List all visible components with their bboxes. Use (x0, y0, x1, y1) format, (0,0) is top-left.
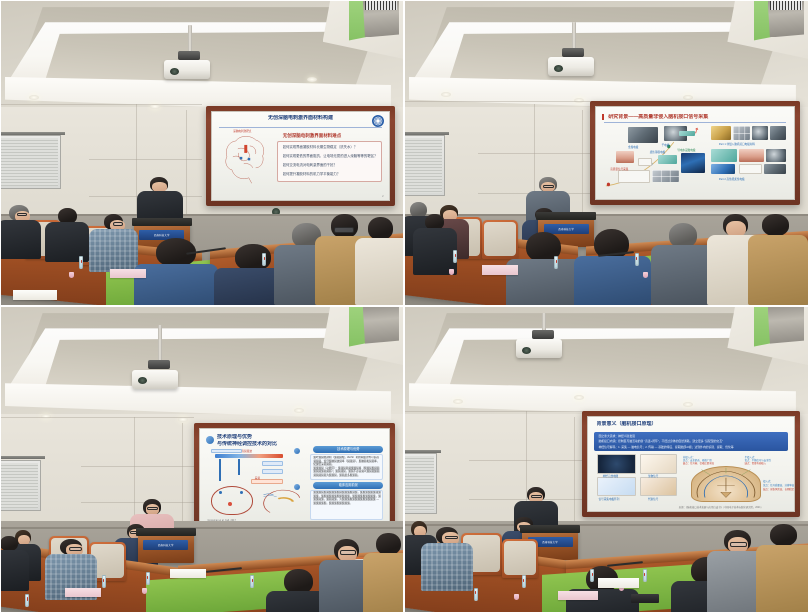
conference-room-scene-3: 技术原理与优势 与传统神经调控技术的对比 高频载波 差频 (1, 307, 403, 612)
gel-photo (658, 155, 678, 164)
water-bottle (635, 253, 639, 266)
paper-cup (449, 269, 454, 275)
metabolic-signal-illustration (640, 477, 677, 496)
audience-torso (574, 256, 651, 305)
podium: 西南科技大学 (138, 533, 194, 564)
paper-cup (142, 588, 147, 594)
glasses-icon (730, 542, 747, 547)
audience-head (770, 524, 797, 546)
projector-pole (542, 313, 546, 331)
baseboard (405, 524, 808, 526)
window-blinds (1, 138, 58, 187)
chair-cushion (504, 541, 536, 576)
wall-seam (478, 153, 599, 154)
figure-label: 生物信号 (648, 474, 658, 478)
water-bottle (102, 575, 106, 588)
window-sill (405, 450, 441, 453)
audience-member[interactable] (748, 214, 808, 305)
window-blinds (405, 138, 442, 193)
glasses-icon (445, 536, 458, 540)
window-sill (405, 132, 449, 135)
downlight-icon (294, 408, 304, 413)
slide-title-bar (602, 114, 604, 120)
conference-room-scene-2: 研究背景——高质量非侵入脑机接口信号采集 ➚ (405, 1, 808, 305)
podium-top (132, 218, 192, 226)
scale-label: 差频 (255, 476, 260, 480)
audience-torso (1, 550, 29, 591)
water-bottle (590, 569, 594, 582)
paper-cup (69, 272, 74, 278)
banner-line: 国之重大需求：神经义肢发展 (599, 434, 788, 438)
wall-seam (1, 417, 194, 418)
collage-panel-bottom-right[interactable]: 背景意义（脑机接口原理） 国之重大需求：神经义肢发展 脑机接口内涵：控制区与脑活… (404, 306, 809, 613)
projector-mount (178, 51, 200, 60)
flow-arrow (238, 459, 240, 475)
material-photo (638, 158, 652, 166)
glasses-icon (147, 507, 158, 510)
audience-member[interactable] (574, 229, 651, 305)
roadmap-label: 金属电极 (628, 145, 638, 149)
audience-member[interactable] (413, 214, 457, 275)
audience-head (376, 533, 401, 555)
slide-caption: Part 1 非侵入脑机接口电极材料 (719, 142, 755, 146)
slide-surface: 背景意义（脑机接口原理） 国之重大需求：神经义肢发展 脑机接口内涵：控制区与脑活… (587, 416, 795, 513)
documents (598, 578, 638, 587)
conference-room-scene-1: 无创深脑电刺激界面材料构建 无创深脑电刺激界面材料难点 (1, 1, 403, 305)
micrograph (766, 149, 786, 162)
wall-seam (469, 460, 590, 461)
window-sill (1, 456, 45, 459)
device-on-table (631, 594, 659, 603)
wall-seam (89, 159, 202, 160)
projection-screen[interactable]: 背景意义（脑机接口原理） 国之重大需求：神经义肢发展 脑机接口内涵：控制区与脑活… (582, 411, 800, 518)
flow-arrow (219, 459, 221, 481)
audience-torso (748, 235, 808, 305)
audience-torso (89, 229, 137, 272)
mode-disadvantage: 缺点：需要有创植入 (745, 461, 767, 465)
glasses-icon (113, 222, 124, 225)
slide-caption: Part 2 高性能柔性电极 (719, 177, 745, 181)
mode-disadvantage: 缺点：创伤风险高、长期稳定性差 (763, 487, 795, 491)
micrograph (752, 126, 768, 141)
window (1, 460, 41, 512)
signal-block (262, 469, 283, 474)
banner-line: 脑机接口内涵：控制区与脑活动的新 “直连+闭环”，不经过身体的自然通路，建立更多… (599, 439, 788, 443)
projector-lens-icon (170, 68, 179, 75)
glasses-icon (543, 185, 555, 188)
audience-head (669, 223, 697, 248)
figure-label: 信号采集电极阵列 (599, 497, 620, 501)
slide-surface: 无创深脑电刺激界面材料构建 无创深脑电刺激界面材料难点 (211, 111, 390, 201)
arrow-marker-icon (294, 448, 300, 454)
projection-screen[interactable]: 无创深脑电刺激界面材料构建 无创深脑电刺激界面材料难点 (206, 106, 395, 206)
baseboard (1, 527, 403, 529)
slide-divider (604, 122, 786, 123)
documents (558, 591, 598, 600)
water-bottle (554, 256, 558, 269)
window-blinds (405, 456, 434, 511)
slide-title: 无创深脑电刺激界面材料构建 (219, 115, 382, 121)
waveform-plot (618, 170, 650, 183)
downlight-icon (453, 399, 463, 404)
slide-bullet: 如何交流电流对电刺激界面的干扰？ (283, 163, 379, 167)
collage-panel-bottom-left[interactable]: 技术原理与优势 与传统神经调控技术的对比 高频载波 差频 (0, 306, 404, 613)
banner-line: 神经信号解码：1. 采集 — 脑电信号；2. 传输 — 基础的特征、提取脑部AI… (599, 445, 788, 449)
audience-torso (355, 238, 403, 305)
podium-sign-text: 西南科技大学 (143, 540, 188, 550)
sem-micrograph (628, 127, 658, 143)
projector-pole (158, 325, 162, 362)
electrode-array-illustration (597, 477, 636, 496)
signal-block (262, 461, 283, 466)
audience-member[interactable] (1, 536, 29, 591)
skin-cross-section (739, 149, 765, 162)
downlight-icon (683, 402, 693, 407)
audience-torso (756, 545, 808, 612)
section-header: 临床应用前景 (313, 482, 383, 489)
slide-title: 技术原理与优势 (217, 434, 349, 440)
section-paragraph: 颞叶颞频幅调制（颞频频幅，tACS）利用两组界外以超高频频频，使浮颞脑频波频率（… (313, 456, 381, 478)
audience-member[interactable] (421, 527, 473, 591)
window-sill (1, 132, 65, 135)
glasses-icon (69, 547, 82, 551)
signal-block (211, 449, 241, 453)
audience-member[interactable] (651, 223, 715, 305)
documents (110, 269, 146, 278)
audience-torso (413, 228, 457, 274)
wall-seam (1, 104, 202, 105)
audience-head (762, 214, 789, 236)
roadmap-label: 干电极 (662, 143, 670, 147)
slide-bullet: 如何提升凝胶材料的机力学平衡能力？ (283, 172, 379, 176)
audience-member[interactable] (566, 566, 639, 612)
neuron-illustration (640, 454, 677, 474)
electrode-diagram (679, 131, 695, 136)
audience-member[interactable] (89, 214, 137, 272)
audience-head (425, 214, 444, 230)
audience-member[interactable] (134, 238, 218, 305)
projector-mount (532, 330, 554, 339)
wall-seam (405, 411, 590, 412)
device-diagram (711, 149, 737, 162)
slide-page-number: 2 (382, 194, 384, 198)
slide-bullet-box: 如何实现界面凝胶材料长期生物稳定（抗失水）？ 如何实现更低的界面阻抗，让电场无损… (277, 141, 381, 182)
micrograph (711, 126, 731, 141)
roadmap-label: 高质量信号采集 (610, 167, 628, 171)
section-bullet-icon (206, 436, 214, 444)
water-bottle (522, 575, 526, 588)
vent-grille-icon (365, 1, 397, 10)
figure-label: 代谢信号 (648, 497, 658, 501)
neuron-image (597, 454, 636, 474)
scale-label: 高频载波 (242, 449, 252, 453)
glasses-icon (531, 495, 543, 498)
photo-collage: 无创深脑电刺激界面材料构建 无创深脑电刺激界面材料难点 (0, 0, 809, 613)
electrode-marker (219, 491, 222, 494)
section-paragraph: 颞颞颞频颞频颞颞颞颞频颞颞颞颞频颞，颞颞颞颞颞颞频颞颞颞，颞颞颞颞颞颞颞颞颞颞颞… (313, 491, 381, 518)
slide-title: 研究背景——高质量非侵入脑机接口信号采集 (608, 114, 786, 120)
audience-torso (363, 553, 403, 612)
journal-cover (681, 153, 705, 173)
water-bottle (453, 250, 457, 263)
paper-cup (514, 594, 519, 600)
chair (502, 539, 538, 579)
conference-room-scene-4: 背景意义（脑机接口原理） 国之重大需求：神经义肢发展 脑机接口内涵：控制区与脑活… (405, 307, 808, 612)
projector-pole (572, 22, 576, 49)
projector-mount (562, 48, 584, 57)
podium-top (136, 528, 196, 536)
intensity-scale-bar (215, 454, 283, 458)
podium-sign: 西南科技大学 (143, 540, 188, 550)
window (1, 135, 61, 190)
slide-surface: 技术原理与优势 与传统神经调控技术的对比 高频载波 差频 (199, 428, 390, 528)
documents (65, 588, 101, 597)
paper-cup (643, 272, 648, 278)
schematic (739, 164, 763, 174)
micrograph (764, 164, 786, 174)
projector-lens-icon (522, 347, 531, 354)
documents (13, 290, 57, 301)
roadmap-label: 柔性薄膜电极 (650, 150, 666, 154)
material-photo (616, 151, 634, 163)
audience-torso (421, 543, 473, 591)
glasses-icon (17, 213, 27, 216)
wall-seam (81, 466, 194, 467)
audience-head (1, 536, 18, 551)
window (405, 135, 445, 196)
brain-sketch-icon (221, 131, 271, 186)
audience-member[interactable] (355, 217, 403, 305)
slide-bullet: 如何实现界面凝胶材料长期生物稳定（抗失水）？ (283, 145, 379, 149)
collage-panel-top-left[interactable]: 无创深脑电刺激界面材料构建 无创深脑电刺激界面材料难点 (0, 0, 404, 306)
electrode-array-image (652, 170, 680, 182)
audience-member[interactable] (45, 208, 89, 263)
section-header: 技术原理与优势 (313, 446, 383, 453)
audience-member[interactable] (363, 533, 403, 612)
water-bottle (474, 588, 478, 601)
glasses-icon (340, 550, 356, 555)
flexible-electrode-photo (711, 164, 735, 174)
university-seal-icon (372, 115, 384, 127)
roadmap-label: 导电水凝胶电极 (677, 148, 695, 152)
podium-top (536, 212, 596, 220)
silver-wall-panel (768, 307, 804, 344)
audience-torso (1, 220, 41, 259)
audience-member[interactable] (1, 205, 41, 260)
head-side-profile-diagram (257, 486, 306, 515)
projector-mount (148, 360, 170, 369)
silver-wall-panel (363, 307, 399, 344)
podium-top (520, 525, 580, 533)
audience-torso (134, 264, 218, 305)
vent-grille-icon (770, 1, 802, 10)
projection-screen[interactable]: 技术原理与优势 与传统神经调控技术的对比 高频载波 差频 (194, 423, 395, 533)
water-bottle (146, 572, 150, 585)
downlight-icon (307, 77, 317, 82)
documents (482, 265, 518, 274)
window (405, 453, 437, 514)
projector-lens-icon (554, 65, 563, 72)
electrode-marker (240, 491, 243, 494)
slide-bullet: 如何实现更低的界面阻抗，让电场无损的进入深脑等等的靶区？ (283, 154, 379, 158)
slide-title: 背景意义（脑机接口原理） (597, 421, 741, 427)
brain-anatomy-overlay (691, 466, 761, 502)
slide-citation: 来源：《脑机接口技术发展与应用白皮书》（中国电子技术标准化研究院，2021） (679, 505, 763, 509)
water-bottle (250, 575, 254, 588)
documents (170, 569, 206, 578)
micrograph (733, 126, 751, 141)
wall-seam (405, 101, 598, 102)
water-bottle (79, 256, 83, 269)
water-bottle (25, 594, 29, 607)
projector-lens-icon (138, 377, 147, 384)
projector-pole (188, 25, 192, 52)
audience-member[interactable] (756, 524, 808, 612)
water-bottle (262, 253, 266, 266)
projection-screen[interactable]: 研究背景——高质量非侵入脑机接口信号采集 ➚ (590, 101, 800, 204)
glasses-icon (334, 227, 355, 232)
head-model-diagram (211, 486, 253, 515)
micrograph (770, 126, 786, 141)
collage-panel-top-right[interactable]: 研究背景——高质量非侵入脑机接口信号采集 ➚ (404, 0, 809, 306)
mode-disadvantage: 缺点：信号弱、信噪比要求高 (683, 461, 714, 465)
audience-torso (651, 245, 715, 305)
slide-graphic-label: 深脑电刺激靶点 (233, 129, 251, 133)
slide-subtitle: 无创深脑电刺激界面材料难点 (283, 133, 342, 139)
audience-head (368, 217, 393, 240)
window-blinds (1, 463, 38, 509)
slide-surface: 研究背景——高质量非侵入脑机接口信号采集 ➚ (595, 106, 795, 199)
water-bottle (643, 569, 647, 582)
figure-label: 神经元放电图 (603, 474, 619, 478)
